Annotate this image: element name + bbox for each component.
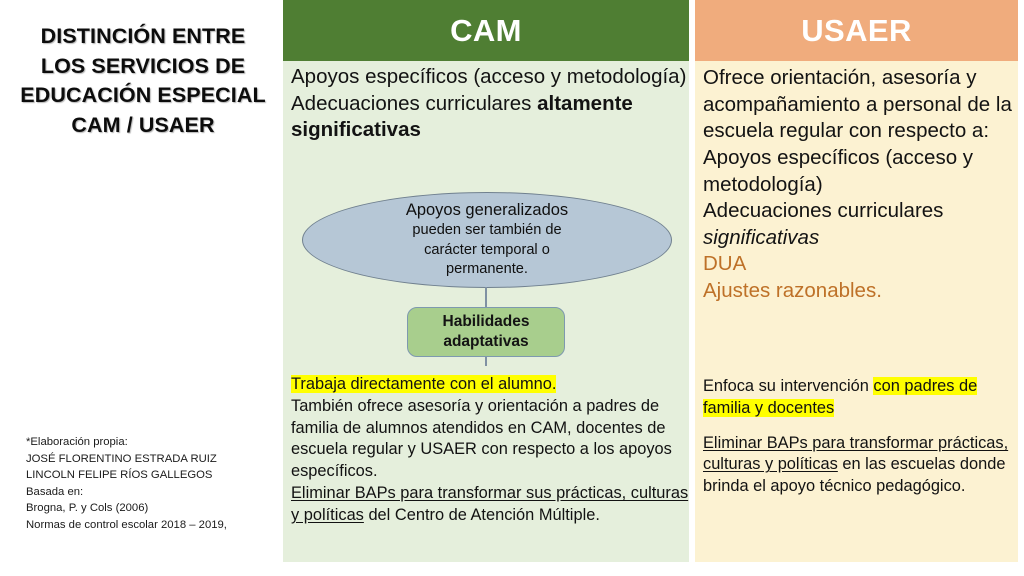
cam-column-header: CAM <box>283 0 689 61</box>
usaer-column-header: USAER <box>695 0 1018 61</box>
cam-intro-line-1: Apoyos específicos (acceso y metodología… <box>291 65 686 88</box>
cam-intro-text: Apoyos específicos (acceso y metodología… <box>291 64 687 144</box>
credit-line: Normas de control escolar 2018 – 2019, <box>26 517 278 534</box>
credit-line: *Elaboración propia: <box>26 434 278 451</box>
credit-line: Basada en: <box>26 484 278 501</box>
cam-column: CAM Apoyos específicos (acceso y metodol… <box>283 0 689 562</box>
title-line-1: DISTINCIÓN ENTRE <box>4 22 282 52</box>
title-line-4: CAM / USAER <box>4 111 282 141</box>
usaer-lead-text: Enfoca su intervención <box>703 377 873 395</box>
usaer-intro-line-1: Ofrece orientación, asesoría y acompañam… <box>703 66 1012 142</box>
usaer-column: USAER Ofrece orientación, asesoría y aco… <box>695 0 1018 562</box>
usaer-column-body: Ofrece orientación, asesoría y acompañam… <box>695 61 1018 562</box>
paragraph-spacer <box>703 420 1018 433</box>
credit-line: Brogna, P. y Cols (2006) <box>26 500 278 517</box>
usaer-accent-dua: DUA <box>703 252 746 275</box>
ellipse-heading: Apoyos generalizados <box>406 201 568 220</box>
credit-line: LINCOLN FELIPE RÍOS GALLEGOS <box>26 467 278 484</box>
credit-line: JOSÉ FLORENTINO ESTRADA RUIZ <box>26 451 278 468</box>
cam-detail-text: Trabaja directamente con el alumno. Tamb… <box>291 374 689 527</box>
cam-intro-line-2-normal: Adecuaciones curriculares <box>291 92 537 115</box>
usaer-intro-line-3-normal: Adecuaciones curriculares <box>703 199 943 222</box>
usaer-intro-text: Ofrece orientación, asesoría y acompañam… <box>703 65 1017 305</box>
ellipse-line-4: permanente. <box>446 260 528 279</box>
usaer-intro-line-3-italic: significativas <box>703 226 819 249</box>
title-line-3: EDUCACIÓN ESPECIAL <box>4 81 282 111</box>
usaer-accent-ajustes: Ajustes razonables. <box>703 279 882 302</box>
cam-column-body: Apoyos específicos (acceso y metodología… <box>283 61 689 562</box>
apoyos-generalizados-ellipse: Apoyos generalizados pueden ser también … <box>302 192 672 288</box>
cam-tail-text: del Centro de Atención Múltiple. <box>364 506 600 524</box>
cam-highlighted-sentence: Trabaja directamente con el alumno. <box>291 375 556 393</box>
ellipse-line-2: pueden ser también de <box>412 221 561 240</box>
title-line-2: LOS SERVICIOS DE <box>4 52 282 82</box>
ellipse-line-3: carácter temporal o <box>424 241 550 260</box>
cam-paragraph: También ofrece asesoría y orientación a … <box>291 397 672 480</box>
credits-block: *Elaboración propia: JOSÉ FLORENTINO EST… <box>26 434 278 534</box>
adapt-box-line-1: Habilidades <box>443 312 530 332</box>
page-title: DISTINCIÓN ENTRE LOS SERVICIOS DE EDUCAC… <box>4 22 282 141</box>
title-panel: DISTINCIÓN ENTRE LOS SERVICIOS DE EDUCAC… <box>0 0 283 576</box>
adapt-box-line-2: adaptativas <box>443 332 528 352</box>
habilidades-adaptativas-box: Habilidades adaptativas <box>407 307 565 357</box>
usaer-intro-line-2: Apoyos específicos (acceso y metodología… <box>703 146 973 196</box>
usaer-detail-text: Enfoca su intervención con padres de fam… <box>703 376 1018 498</box>
